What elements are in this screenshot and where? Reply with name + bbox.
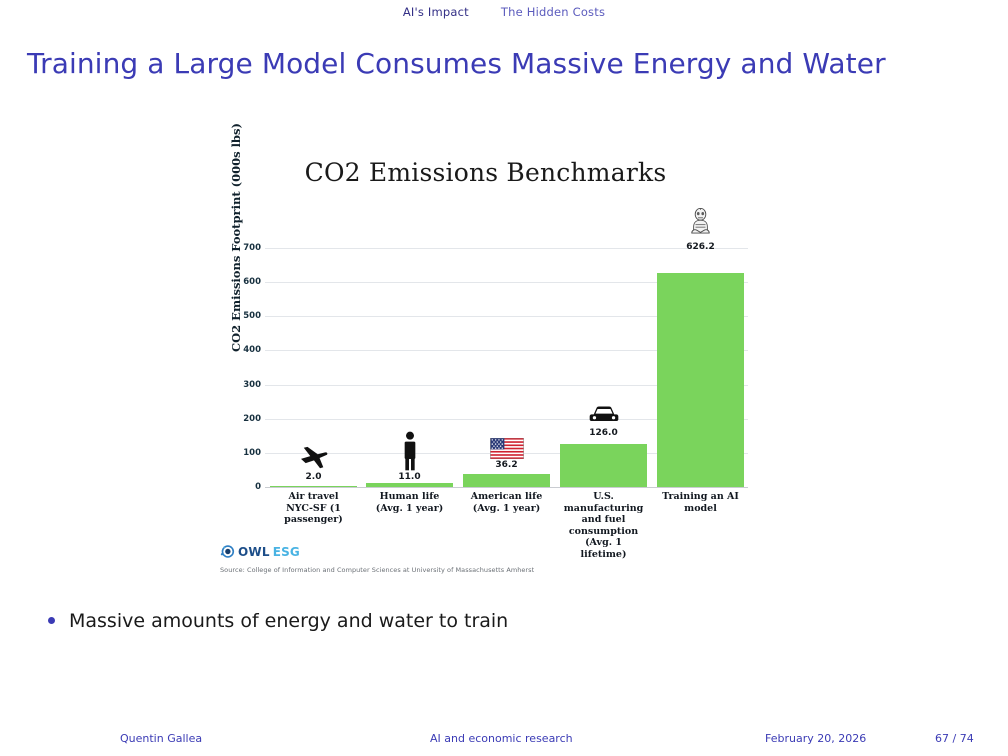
x-cat-line: (Avg. 1 year) bbox=[463, 503, 550, 515]
car-icon bbox=[560, 405, 647, 428]
axis-baseline bbox=[265, 487, 748, 488]
robot-icon bbox=[657, 208, 744, 241]
y-tick-700: 700 bbox=[243, 243, 261, 253]
chart-title: CO2 Emissions Benchmarks bbox=[218, 158, 753, 187]
logo-text-esg: ESG bbox=[273, 545, 300, 559]
bar-value-human-life: 11.0 bbox=[366, 472, 453, 482]
y-tick-600: 600 bbox=[243, 277, 261, 287]
footer-page-number: 67 / 74 bbox=[935, 732, 974, 745]
logo-text-owl: OWL bbox=[238, 545, 270, 559]
bar-us-manufacturing[interactable] bbox=[560, 444, 647, 487]
bar-american-life[interactable] bbox=[463, 474, 550, 487]
bullet-text: Massive amounts of energy and water to t… bbox=[69, 610, 508, 632]
chart-plot-area: CO2 Emissions Footprint (000s lbs) 700 6… bbox=[265, 232, 748, 487]
y-tick-0: 0 bbox=[255, 482, 261, 492]
y-tick-400: 400 bbox=[243, 345, 261, 355]
list-item: Massive amounts of energy and water to t… bbox=[48, 610, 508, 632]
nav-item-the-hidden-costs[interactable]: The Hidden Costs bbox=[501, 5, 605, 19]
x-category-american-life: American life (Avg. 1 year) bbox=[463, 491, 550, 514]
y-tick-100: 100 bbox=[243, 448, 261, 458]
bar-training-ai-model[interactable] bbox=[657, 273, 744, 487]
x-category-human-life: Human life (Avg. 1 year) bbox=[366, 491, 453, 514]
x-cat-line: U.S. bbox=[560, 491, 647, 503]
x-cat-line: passenger) bbox=[270, 514, 357, 526]
x-cat-line: consumption bbox=[560, 526, 647, 538]
bar-value-air-travel: 2.0 bbox=[270, 472, 357, 482]
bar-value-american-life: 36.2 bbox=[463, 460, 550, 470]
owl-eye-icon bbox=[220, 544, 235, 559]
x-cat-line: (Avg. 1 year) bbox=[366, 503, 453, 515]
owl-esg-logo: OWL ESG bbox=[220, 544, 300, 559]
bar-value-training-ai-model: 626.2 bbox=[657, 242, 744, 252]
y-tick-500: 500 bbox=[243, 311, 261, 321]
us-flag-icon bbox=[463, 438, 550, 462]
x-category-training-ai-model: Training an AI model bbox=[657, 491, 744, 514]
x-cat-line: NYC-SF (1 bbox=[270, 503, 357, 515]
x-cat-line: Human life bbox=[366, 491, 453, 503]
x-cat-line: model bbox=[657, 503, 744, 515]
footer-subject: AI and economic research bbox=[430, 732, 573, 745]
y-tick-300: 300 bbox=[243, 380, 261, 390]
x-cat-line: American life bbox=[463, 491, 550, 503]
chart-y-axis-label: CO2 Emissions Footprint (000s lbs) bbox=[229, 123, 243, 352]
footer-author: Quentin Gallea bbox=[120, 732, 202, 745]
x-cat-line: Air travel bbox=[270, 491, 357, 503]
y-tick-200: 200 bbox=[243, 414, 261, 424]
footer-date: February 20, 2026 bbox=[765, 732, 866, 745]
x-category-us-manufacturing: U.S. manufacturing and fuel consumption … bbox=[560, 491, 647, 560]
bar-value-us-manufacturing: 126.0 bbox=[560, 428, 647, 438]
x-cat-line: and fuel bbox=[560, 514, 647, 526]
chart-figure: CO2 Emissions Benchmarks CO2 Emissions F… bbox=[218, 158, 778, 578]
person-icon bbox=[366, 431, 453, 474]
page-title: Training a Large Model Consumes Massive … bbox=[27, 47, 886, 80]
x-category-air-travel: Air travel NYC-SF (1 passenger) bbox=[270, 491, 357, 526]
x-cat-line: (Avg. 1 bbox=[560, 537, 647, 549]
bullet-list: Massive amounts of energy and water to t… bbox=[48, 610, 508, 632]
bar-air-travel[interactable] bbox=[270, 486, 357, 487]
nav-item-ais-impact[interactable]: AI's Impact bbox=[403, 5, 469, 19]
airplane-icon bbox=[270, 445, 357, 474]
bullet-dot-icon bbox=[48, 617, 55, 624]
slide-footer: Quentin Gallea AI and economic research … bbox=[0, 732, 1008, 750]
x-cat-line: Training an AI bbox=[657, 491, 744, 503]
slide-nav: AI's Impact The Hidden Costs bbox=[0, 0, 1008, 24]
bar-human-life[interactable] bbox=[366, 483, 453, 487]
chart-source-note: Source: College of Information and Compu… bbox=[220, 566, 534, 574]
x-cat-line: manufacturing bbox=[560, 503, 647, 515]
x-cat-line: lifetime) bbox=[560, 549, 647, 561]
